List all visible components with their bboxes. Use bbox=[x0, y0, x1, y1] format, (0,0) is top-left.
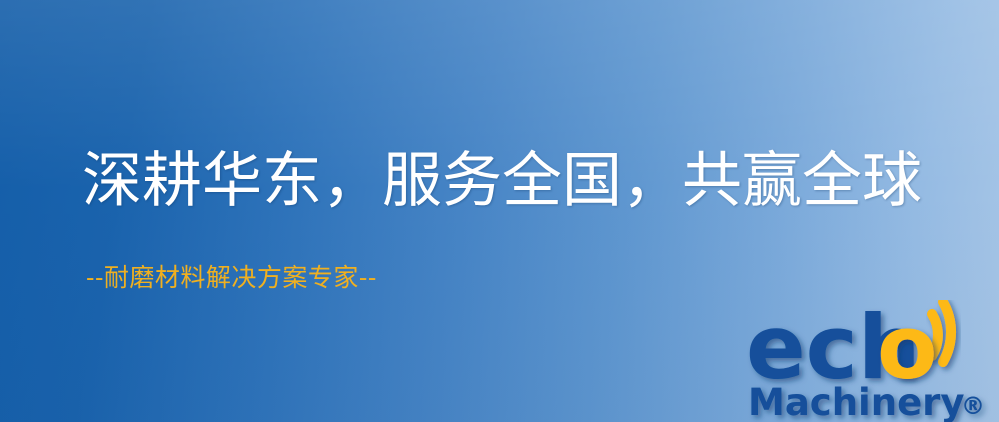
logo-tagline: Machinery bbox=[748, 381, 965, 422]
logo-registered-mark: ® bbox=[961, 392, 985, 420]
logo-artwork: ech o Machinery ® bbox=[746, 300, 999, 422]
company-logo[interactable]: ech o Machinery ® bbox=[746, 300, 999, 422]
hero-banner: 深耕华东，服务全国，共赢全球 --耐磨材料解决方案专家-- ech o Mach… bbox=[0, 0, 999, 422]
banner-headline: 深耕华东，服务全国，共赢全球 bbox=[82, 151, 922, 211]
banner-subheadline: --耐磨材料解决方案专家-- bbox=[86, 265, 377, 290]
